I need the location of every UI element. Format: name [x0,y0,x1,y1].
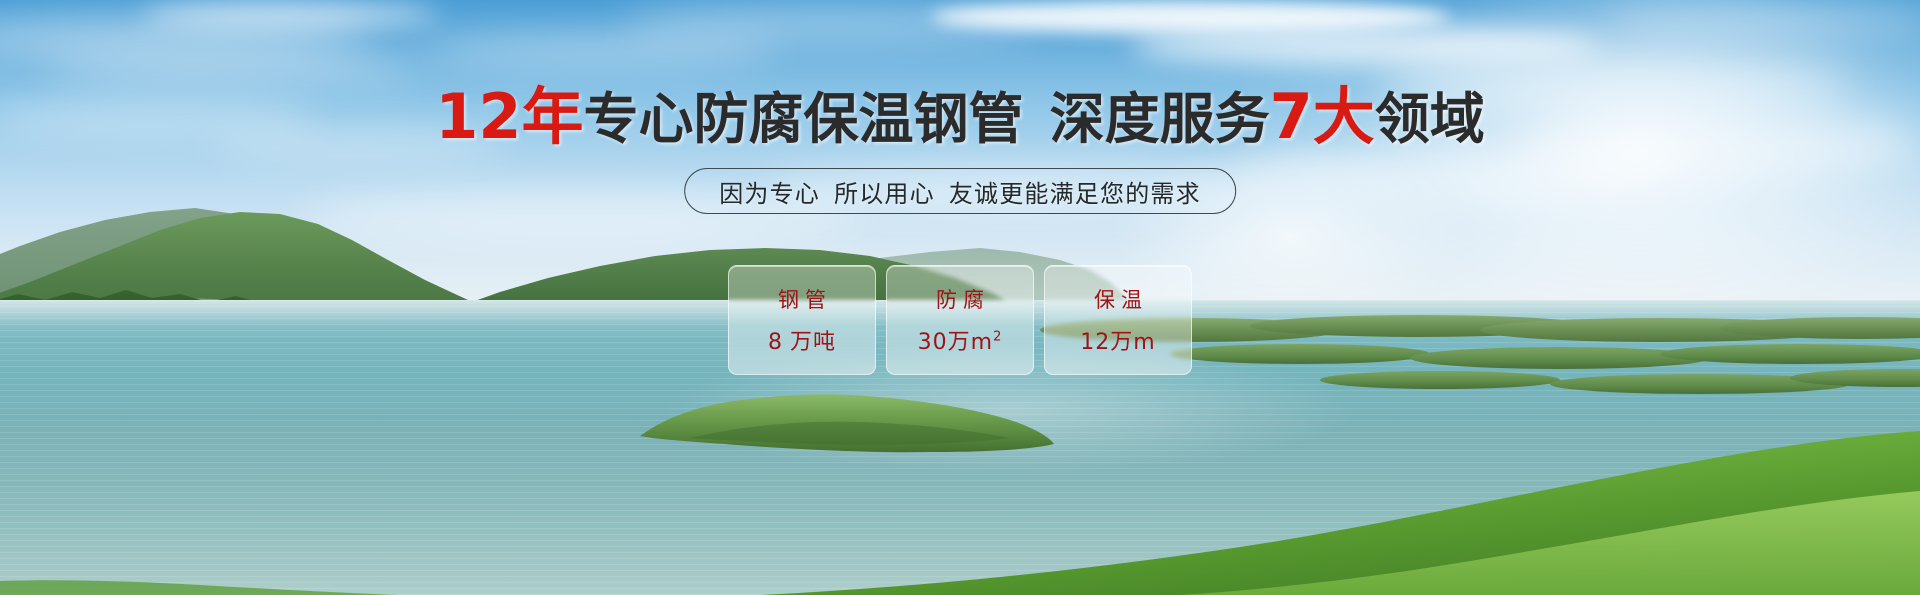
headline-service: 深度服务 [1050,87,1270,151]
stat-card-group: 钢管 8万吨 防腐 30万m2 保温 12万m [728,265,1192,375]
stat-value-number: 30 [918,330,948,355]
cloud-wisp [140,4,440,26]
stat-card-value: 8万吨 [768,324,836,356]
subtitle-seg-3: 友诚更能满足您的需求 [949,174,1201,209]
stat-value-unit: 万m [948,330,993,355]
stat-card-value: 12万m [1080,324,1155,356]
stat-value-number: 12 [1080,330,1110,355]
stat-card-anticorrosion[interactable]: 防腐 30万m2 [886,265,1034,375]
stat-card-value: 30万m2 [918,324,1003,356]
headline-years: 12年 [435,80,583,153]
subtitle-seg-2: 所以用心 [834,174,935,209]
headline-fields: 领域 [1375,87,1485,151]
headline: 12年专心防腐保温钢管深度服务7大领域 [0,86,1920,150]
cloud-wisp [40,56,420,82]
stat-card-label: 保温 [1088,284,1148,314]
stat-card-label: 钢管 [772,284,832,314]
stat-card-label: 防腐 [930,284,990,314]
subtitle-pill: 因为专心所以用心友诚更能满足您的需求 [684,168,1236,214]
cloud-wisp [420,36,780,62]
hero-banner: 12年专心防腐保温钢管深度服务7大领域 因为专心所以用心友诚更能满足您的需求 钢… [0,0,1920,595]
stat-card-insulation[interactable]: 保温 12万m [1044,265,1192,375]
foreground-grass [0,395,1920,595]
stat-value-superscript: 2 [993,330,1002,345]
stat-value-unit: 万吨 [790,330,836,355]
stat-card-steel-pipe[interactable]: 钢管 8万吨 [728,265,876,375]
stat-value-number: 8 [768,330,783,355]
subtitle-seg-1: 因为专心 [719,174,820,209]
headline-main: 专心防腐保温钢管 [584,87,1024,151]
stat-value-unit: 万m [1110,330,1155,355]
headline-seven: 7大 [1270,80,1375,153]
